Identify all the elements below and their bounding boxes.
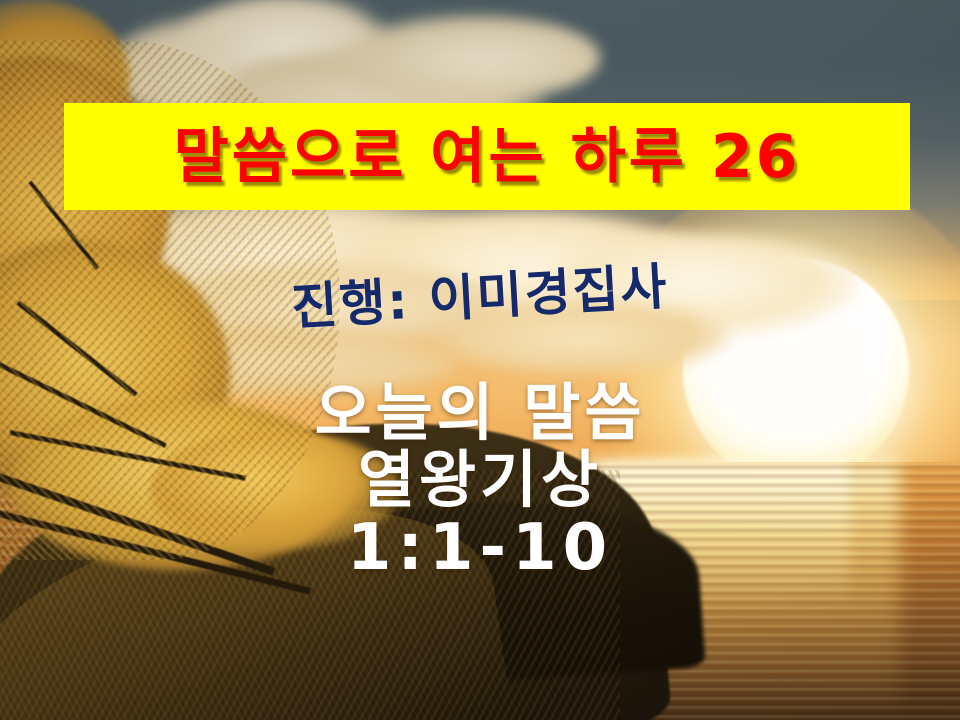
scripture-block: 오늘의 말씀 열왕기상 1:1-10	[0, 380, 960, 583]
scripture-book: 열왕기상	[0, 447, 960, 514]
cloud-shape	[340, 14, 600, 102]
scripture-heading: 오늘의 말씀	[0, 380, 960, 447]
scripture-reference: 1:1-10	[0, 514, 960, 583]
presentation-slide: 말씀으로 여는 하루 26 진행: 이미경집사 오늘의 말씀 열왕기상 1:1-…	[0, 0, 960, 720]
slide-title: 말씀으로 여는 하루 26	[174, 127, 801, 187]
title-banner: 말씀으로 여는 하루 26	[64, 103, 910, 210]
